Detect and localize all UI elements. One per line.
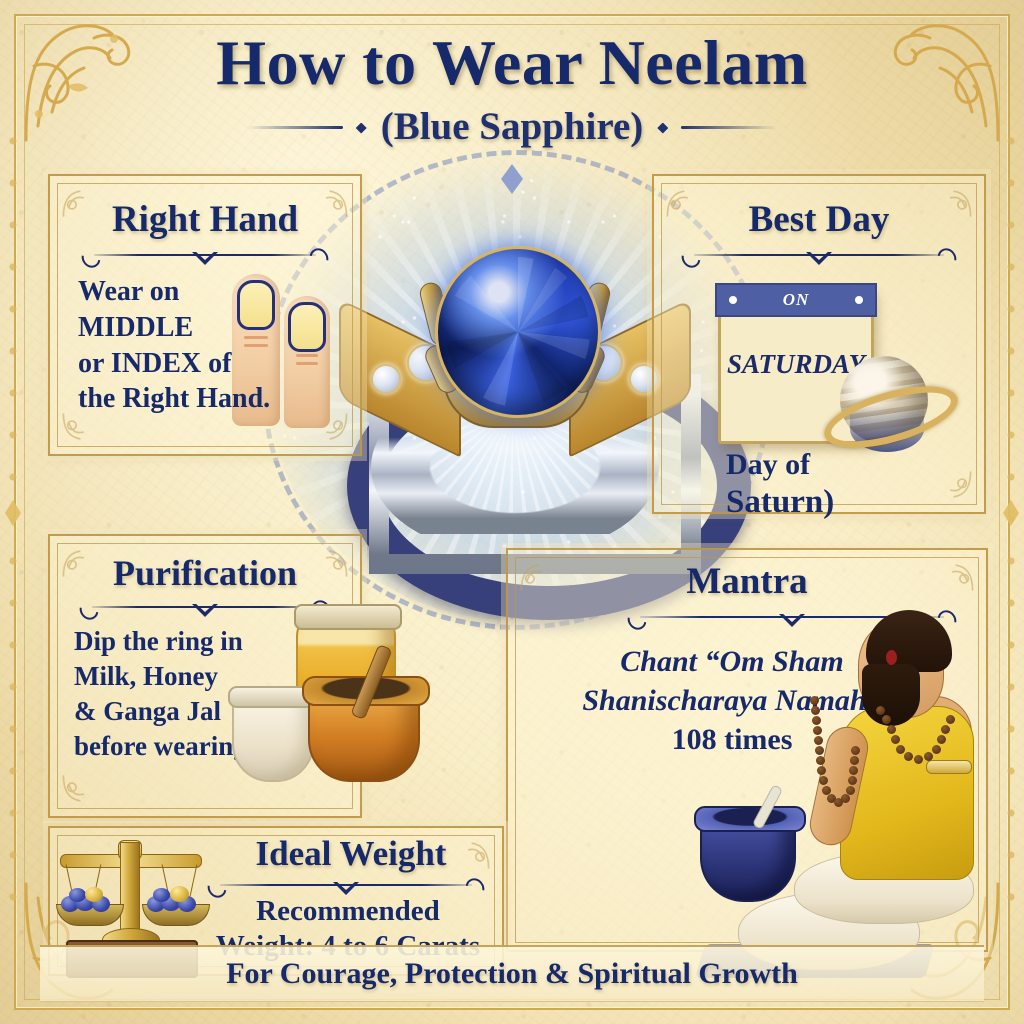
purification-vessels-illustration (196, 600, 426, 790)
sapphire-gemstone (435, 246, 601, 418)
body-line: or INDEX of (78, 346, 268, 382)
armband-icon (926, 760, 972, 774)
edge-diamond-icon (5, 500, 21, 526)
footer-text: For Courage, Protection & Spiritual Grow… (226, 957, 798, 991)
panel-heading-right-hand: Right Hand (50, 198, 360, 241)
gemstone-pile-icon (59, 888, 119, 912)
side-diamond-icon (371, 364, 401, 394)
blue-pot-icon (700, 814, 796, 902)
footer-banner: For Courage, Protection & Spiritual Grow… (40, 945, 984, 1002)
sage-beard-icon (862, 664, 920, 726)
panel-body-best-day: Day of Saturn) (726, 448, 834, 521)
body-line: Recommended (200, 894, 496, 929)
title-divider-right (657, 123, 777, 131)
saturn-planet-icon (832, 348, 936, 452)
body-line: Saturn) (726, 483, 834, 521)
panel-heading-mantra: Mantra (508, 560, 986, 603)
calendar-header-label: ON (783, 290, 810, 310)
edge-dot-pattern (6, 120, 20, 904)
arc-diamond-icon (501, 164, 523, 194)
panel-best-day: Best Day ON SATURDAY Day of Saturn) (652, 174, 986, 514)
body-line: Wear on (78, 274, 268, 310)
body-line: the Right Hand. (78, 381, 268, 417)
index-finger-icon (284, 296, 330, 428)
milk-pot-icon (232, 692, 314, 782)
panel-right-hand: Right Hand Wear on MIDDLE or INDEX of th… (48, 174, 362, 456)
gemstone-pile-icon (145, 888, 205, 912)
ornate-divider-icon (82, 248, 328, 266)
subtitle-row: (Blue Sapphire) (0, 104, 1024, 149)
tilak-icon (886, 650, 897, 665)
sage-hair-icon (866, 610, 952, 672)
title-divider-left (247, 123, 367, 131)
edge-diamond-icon (1003, 500, 1019, 526)
ornate-divider-icon (682, 248, 956, 266)
panel-heading-ideal-weight: Ideal Weight (200, 834, 502, 874)
body-line: MIDDLE (78, 310, 268, 346)
panel-heading-purification: Purification (50, 552, 360, 594)
blue-sapphire-ring-illustration (325, 232, 705, 562)
panel-corner-flourish-icon (60, 772, 94, 806)
infographic-poster: How to Wear Neelam (Blue Sapphire) (0, 0, 1024, 1024)
title-main: How to Wear Neelam (0, 26, 1024, 100)
panel-heading-best-day: Best Day (654, 198, 984, 241)
body-line: Day of (726, 448, 834, 483)
panel-body-right-hand: Wear on MIDDLE or INDEX of the Right Han… (78, 274, 268, 417)
title-subtitle: (Blue Sapphire) (381, 104, 644, 149)
panel-corner-flourish-icon (940, 468, 974, 502)
calendar-header-bar: ON (715, 283, 877, 317)
page-title: How to Wear Neelam (Blue Sapphire) (0, 26, 1024, 149)
